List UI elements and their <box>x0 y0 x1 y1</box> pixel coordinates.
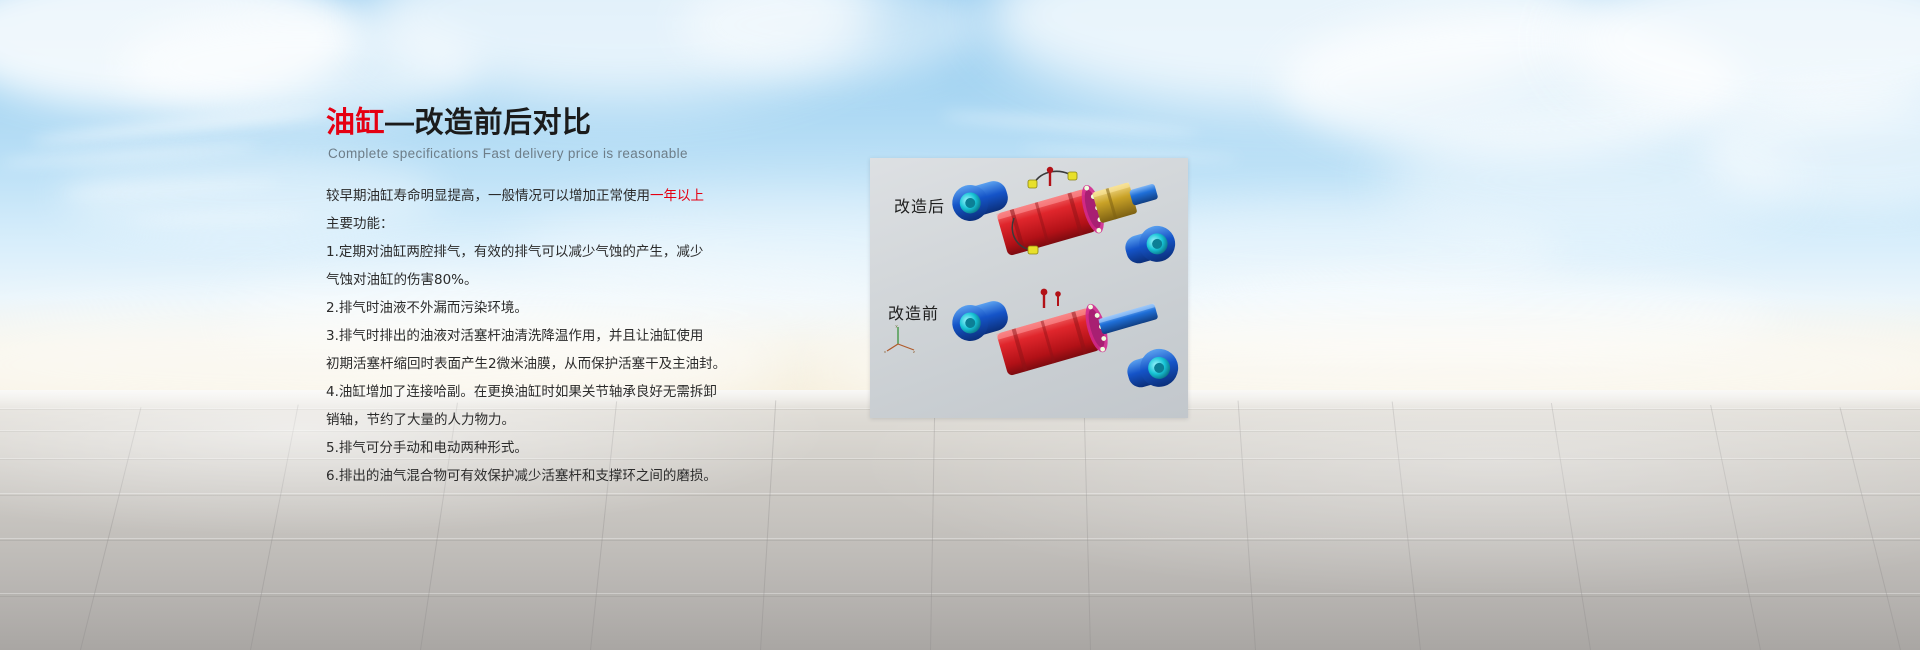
product-image-panel: 改造后 改造前 y x z <box>870 158 1188 418</box>
feature-line-text: 4.油缸增加了连接哈副。在更换油缸时如果关节轴承良好无需拆卸 <box>326 384 717 400</box>
feature-line-text: 2.排气时油液不外漏而污染环境。 <box>326 300 528 316</box>
feature-line-text: 5.排气可分手动和电动两种形式。 <box>326 440 528 456</box>
svg-text:z: z <box>913 349 915 354</box>
feature-line-text: 1.定期对油缸两腔排气，有效的排气可以减少气蚀的产生，减少 <box>326 244 703 260</box>
feature-line-text: 初期活塞杆缩回时表面产生2微米油膜，从而保护活塞干及主油封。 <box>326 356 726 372</box>
page-title-highlight: 油缸 <box>326 107 385 139</box>
banner-stage: 油缸—改造前后对比 Complete specifications Fast d… <box>0 0 1920 650</box>
feature-list: 较早期油缸寿命明显提高，一般情况可以增加正常使用一年以上 主要功能： 1.定期对… <box>326 186 846 487</box>
feature-line: 较早期油缸寿命明显提高，一般情况可以增加正常使用一年以上 <box>326 186 846 207</box>
cylinder-after-illustration <box>922 162 1184 280</box>
feature-line-text: 6.排出的油气混合物可有效保护减少活塞杆和支撑环之间的磨损。 <box>326 468 717 484</box>
page-title: 油缸—改造前后对比 <box>326 106 846 140</box>
feature-line-text: 气蚀对油缸的伤害80%。 <box>326 272 478 288</box>
banner-text-block: 油缸—改造前后对比 Complete specifications Fast d… <box>326 106 846 494</box>
feature-line: 3.排气时排出的油液对活塞杆油清洗降温作用，并且让油缸使用 <box>326 326 846 347</box>
feature-line-text: 较早期油缸寿命明显提高，一般情况可以增加正常使用 <box>326 188 650 204</box>
feature-line: 气蚀对油缸的伤害80%。 <box>326 270 846 291</box>
svg-text:x: x <box>884 349 886 354</box>
feature-line-text: 3.排气时排出的油液对活塞杆油清洗降温作用，并且让油缸使用 <box>326 328 703 344</box>
feature-line: 1.定期对油缸两腔排气，有效的排气可以减少气蚀的产生，减少 <box>326 242 846 263</box>
feature-line-highlight: 一年以上 <box>650 188 704 204</box>
cylinder-before-illustration <box>922 276 1184 404</box>
feature-line-text: 主要功能： <box>326 216 394 232</box>
feature-line-text: 销轴，节约了大量的人力物力。 <box>326 412 515 428</box>
feature-line: 销轴，节约了大量的人力物力。 <box>326 410 846 431</box>
page-subtitle: Complete specifications Fast delivery pr… <box>328 146 846 161</box>
feature-line: 主要功能： <box>326 214 846 235</box>
svg-text:y: y <box>896 324 898 328</box>
feature-line: 6.排出的油气混合物可有效保护减少活塞杆和支撑环之间的磨损。 <box>326 466 846 487</box>
axis-triad-icon: y x z <box>884 324 918 354</box>
pavement-background <box>0 390 1920 650</box>
feature-line: 初期活塞杆缩回时表面产生2微米油膜，从而保护活塞干及主油封。 <box>326 354 846 375</box>
page-title-rest: —改造前后对比 <box>385 107 592 139</box>
pavement-sheen <box>0 390 1920 650</box>
feature-line: 4.油缸增加了连接哈副。在更换油缸时如果关节轴承良好无需拆卸 <box>326 382 846 403</box>
feature-line: 5.排气可分手动和电动两种形式。 <box>326 438 846 459</box>
feature-line: 2.排气时油液不外漏而污染环境。 <box>326 298 846 319</box>
